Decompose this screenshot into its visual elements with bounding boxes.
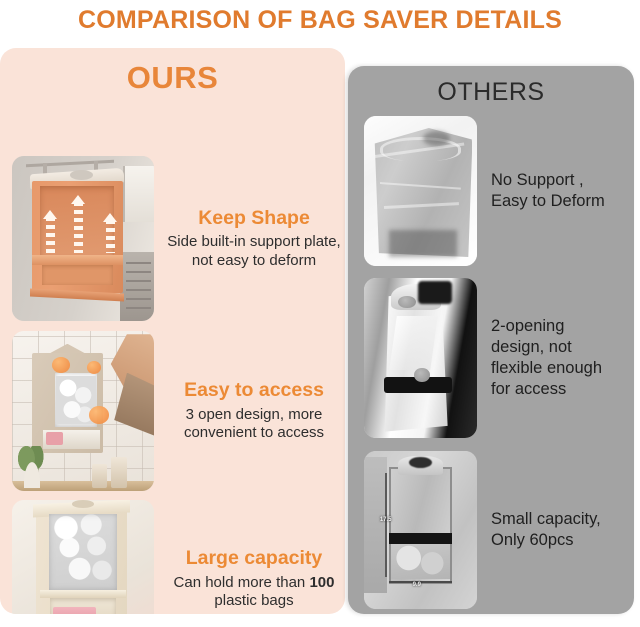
- ours-feature-row-large-capacity: Large capacity Can hold more than 100 pl…: [12, 500, 342, 614]
- support-arrow-up-icon: [46, 217, 55, 253]
- others-drawback-text: Small capacity, Only 60pcs: [477, 509, 622, 551]
- highlight-dot-icon: [89, 406, 109, 424]
- photo-pink-roll: [46, 432, 63, 445]
- photo-box-top-opening: [72, 500, 95, 508]
- photo-jar: [92, 464, 108, 488]
- ours-heading: OURS: [0, 60, 345, 96]
- ours-feature-text: Easy to access 3 open design, more conve…: [154, 379, 342, 442]
- ours-body-text: 3 open design, more convenient to access: [184, 406, 324, 441]
- others-drawback-row-small-capacity: 17.5 9.9 Small capacity, Only 60pcs: [364, 451, 622, 609]
- dimension-label-vertical: 17.5: [380, 517, 392, 523]
- ours-feature-row-keep-shape: Keep Shape Side built-in support plate, …: [12, 156, 342, 321]
- ours-panel: OURS Keep Shape Side built-in support: [0, 48, 345, 614]
- ours-body-emphasis: 100: [309, 574, 334, 591]
- others-drawback-row-two-opening: 2-opening design, not flexible enough fo…: [364, 278, 622, 438]
- others-panel: OTHERS No Support , Easy to Deform 2-ope…: [348, 66, 634, 614]
- photo-window: [123, 166, 154, 222]
- photo-bags-through-window: [49, 514, 117, 590]
- page-title: COMPARISON OF BAG SAVER DETAILS: [0, 0, 640, 40]
- photo-pink-roll: [53, 607, 96, 614]
- photo-cabinet-lower-compartment: [42, 265, 113, 285]
- photo-cabinet-shelf: [32, 255, 123, 265]
- dimension-line-vertical: [385, 473, 387, 577]
- highlight-dot-icon: [52, 357, 70, 373]
- others-drawback-text: 2-opening design, not flexible enough fo…: [477, 316, 622, 399]
- ours-feature-row-easy-access: Easy to access 3 open design, more conve…: [12, 331, 342, 491]
- photo-lower-bag: [391, 544, 450, 579]
- deformed-floppy-fabric-bag-photo: [364, 116, 477, 266]
- small-capacity-bag-holder-dimensions-photo: 17.5 9.9: [364, 451, 477, 609]
- photo-plastic-sheen: [390, 316, 438, 370]
- others-heading: OTHERS: [348, 78, 634, 107]
- photo-shadow: [423, 131, 450, 146]
- highlight-dot-icon: [414, 368, 430, 382]
- photo-cabinet-opening: [70, 170, 93, 180]
- ours-feature-heading: Large capacity: [166, 547, 342, 569]
- photo-dark-region: [418, 281, 452, 303]
- ours-feature-body: 3 open design, more convenient to access: [166, 406, 342, 443]
- others-drawback-row-no-support: No Support , Easy to Deform: [364, 116, 622, 266]
- support-arrow-up-icon: [74, 202, 83, 253]
- others-drawback-text: No Support , Easy to Deform: [477, 170, 622, 212]
- ours-feature-text: Keep Shape Side built-in support plate, …: [154, 207, 342, 270]
- dimension-label-horizontal: 9.9: [413, 582, 421, 588]
- photo-side-panel: [364, 457, 387, 593]
- support-arrow-up-icon: [106, 220, 115, 253]
- kitchen-house-holder-hand-access-photo: [12, 331, 154, 491]
- ours-feature-body: Can hold more than 100 plastic bags: [166, 574, 342, 611]
- ours-body-text: Can hold more than: [174, 574, 310, 591]
- ours-feature-heading: Easy to access: [166, 379, 342, 401]
- ours-body-text: Side built-in support plate, not easy to…: [167, 233, 340, 268]
- ours-feature-heading: Keep Shape: [166, 207, 342, 229]
- ours-feature-text: Large capacity Can hold more than 100 pl…: [154, 547, 342, 610]
- photo-jar: [111, 457, 127, 487]
- photo-shadow: [389, 230, 457, 257]
- two-opening-bag-dispenser-photo: [364, 278, 477, 438]
- photo-middle-shelf: [40, 590, 125, 598]
- photo-potted-plant: [18, 446, 46, 488]
- orange-wall-cabinet-support-plate-photo: [12, 156, 154, 321]
- cream-box-full-of-plastic-bags-photo: [12, 500, 154, 614]
- ours-body-text: plastic bags: [214, 592, 293, 609]
- ours-feature-body: Side built-in support plate, not easy to…: [166, 233, 342, 270]
- photo-shelf-lines: [126, 262, 152, 312]
- photo-middle-slot: [389, 533, 452, 544]
